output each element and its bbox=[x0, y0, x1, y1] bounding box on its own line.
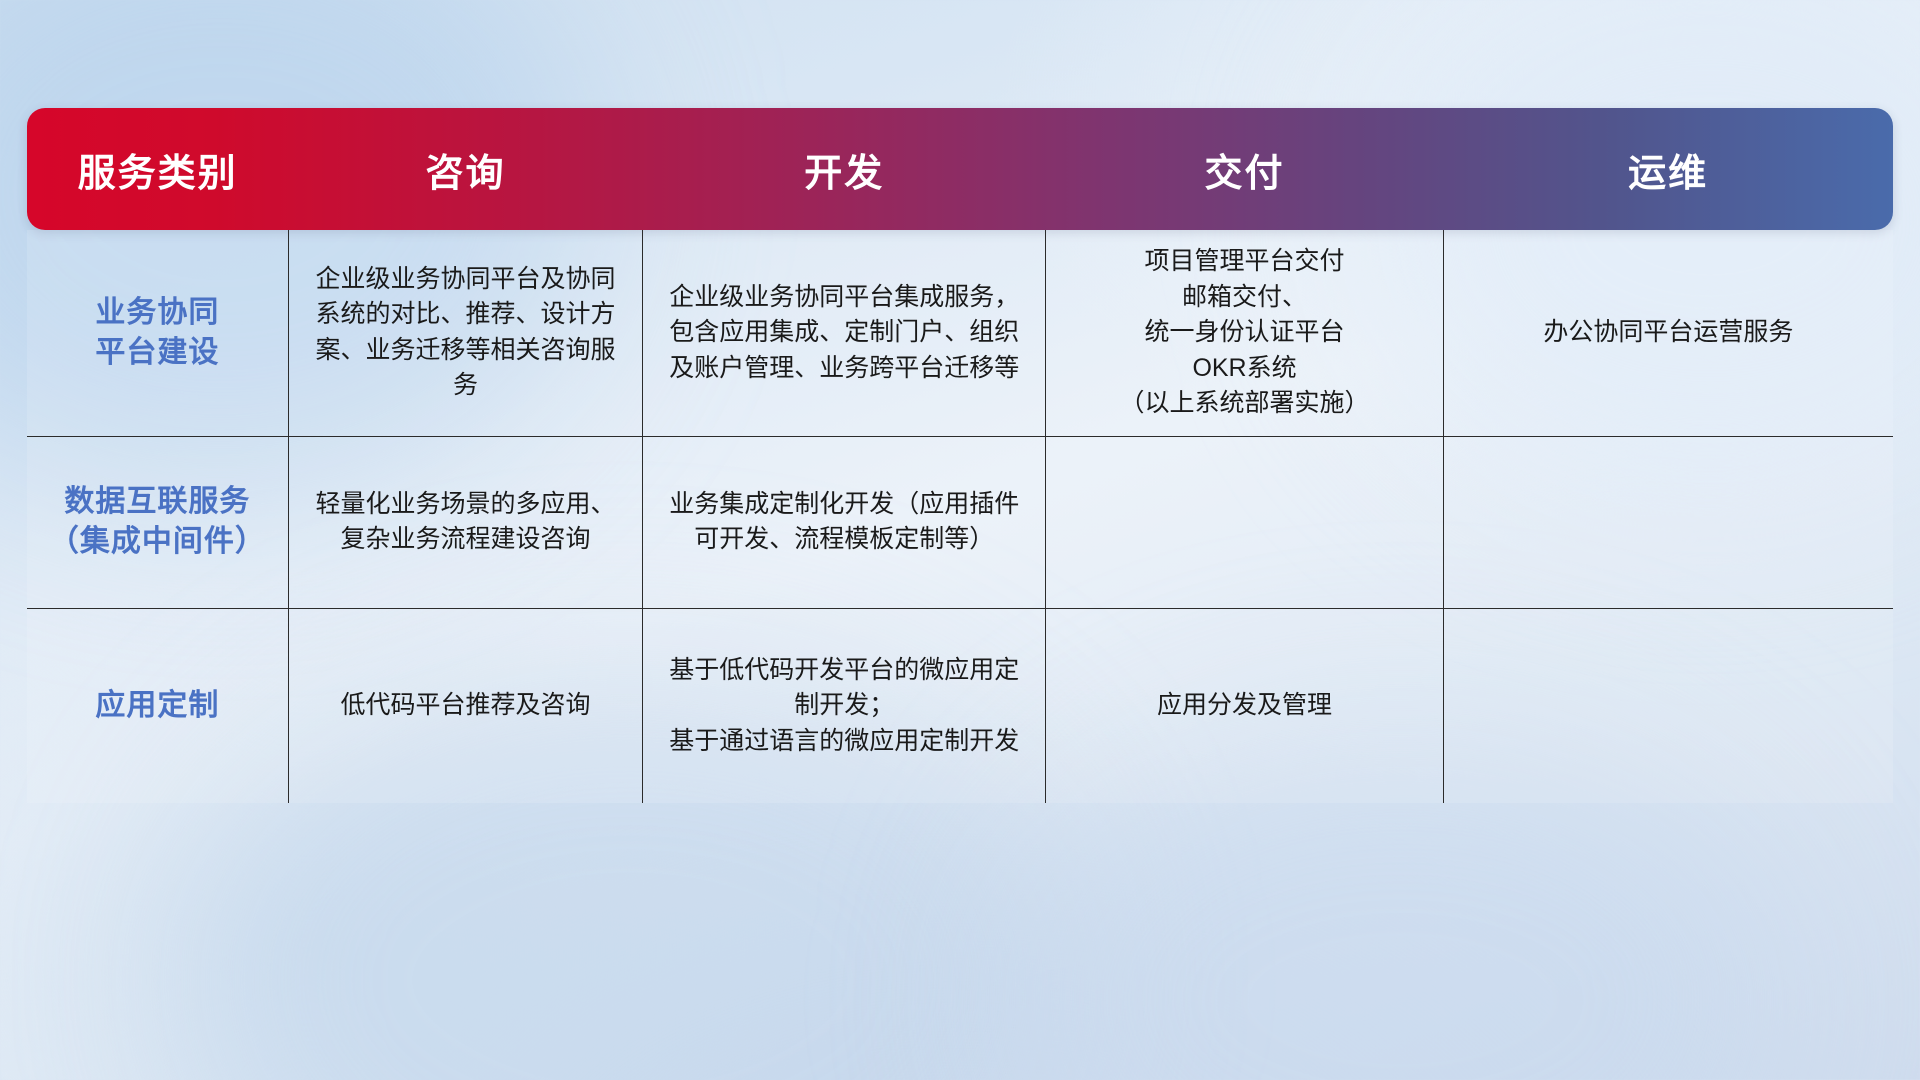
service-matrix-table: 服务类别 咨询 开发 交付 运维 业务协同 平台建设 企业级业务协同平台及协同系… bbox=[27, 108, 1893, 803]
row-category-label: 应用定制 bbox=[27, 608, 288, 803]
cell-consulting: 低代码平台推荐及咨询 bbox=[288, 608, 643, 803]
table-row: 数据互联服务 （集成中间件） 轻量化业务场景的多应用、复杂业务流程建设咨询 业务… bbox=[27, 436, 1893, 608]
service-matrix-table-wrapper: 服务类别 咨询 开发 交付 运维 业务协同 平台建设 企业级业务协同平台及协同系… bbox=[27, 108, 1893, 803]
row-category-label: 业务协同 平台建设 bbox=[27, 230, 288, 436]
cell-development: 企业级业务协同平台集成服务，包含应用集成、定制门户、组织及账户管理、业务跨平台迁… bbox=[643, 230, 1046, 436]
cell-consulting: 轻量化业务场景的多应用、复杂业务流程建设咨询 bbox=[288, 436, 643, 608]
cell-operations: 办公协同平台运营服务 bbox=[1443, 230, 1893, 436]
header-row: 服务类别 咨询 开发 交付 运维 bbox=[27, 108, 1893, 230]
cell-delivery: 项目管理平台交付 邮箱交付、 统一身份认证平台 OKR系统 （以上系统部署实施） bbox=[1046, 230, 1443, 436]
slide-canvas: 服务类别 咨询 开发 交付 运维 业务协同 平台建设 企业级业务协同平台及协同系… bbox=[0, 0, 1920, 1080]
table-row: 应用定制 低代码平台推荐及咨询 基于低代码开发平台的微应用定制开发； 基于通过语… bbox=[27, 608, 1893, 803]
cell-development: 基于低代码开发平台的微应用定制开发； 基于通过语言的微应用定制开发 bbox=[643, 608, 1046, 803]
cell-delivery: 应用分发及管理 bbox=[1046, 608, 1443, 803]
cell-operations bbox=[1443, 608, 1893, 803]
column-header-development: 开发 bbox=[643, 108, 1046, 230]
cell-delivery bbox=[1046, 436, 1443, 608]
cell-consulting: 企业级业务协同平台及协同系统的对比、推荐、设计方案、业务迁移等相关咨询服务 bbox=[288, 230, 643, 436]
table-header: 服务类别 咨询 开发 交付 运维 bbox=[27, 108, 1893, 230]
table-row: 业务协同 平台建设 企业级业务协同平台及协同系统的对比、推荐、设计方案、业务迁移… bbox=[27, 230, 1893, 436]
column-header-operations: 运维 bbox=[1443, 108, 1893, 230]
column-header-consulting: 咨询 bbox=[288, 108, 643, 230]
row-category-label: 数据互联服务 （集成中间件） bbox=[27, 436, 288, 608]
cell-operations bbox=[1443, 436, 1893, 608]
column-header-delivery: 交付 bbox=[1046, 108, 1443, 230]
cell-development: 业务集成定制化开发（应用插件可开发、流程模板定制等） bbox=[643, 436, 1046, 608]
column-header-service-category: 服务类别 bbox=[27, 108, 288, 230]
table-body: 业务协同 平台建设 企业级业务协同平台及协同系统的对比、推荐、设计方案、业务迁移… bbox=[27, 230, 1893, 803]
